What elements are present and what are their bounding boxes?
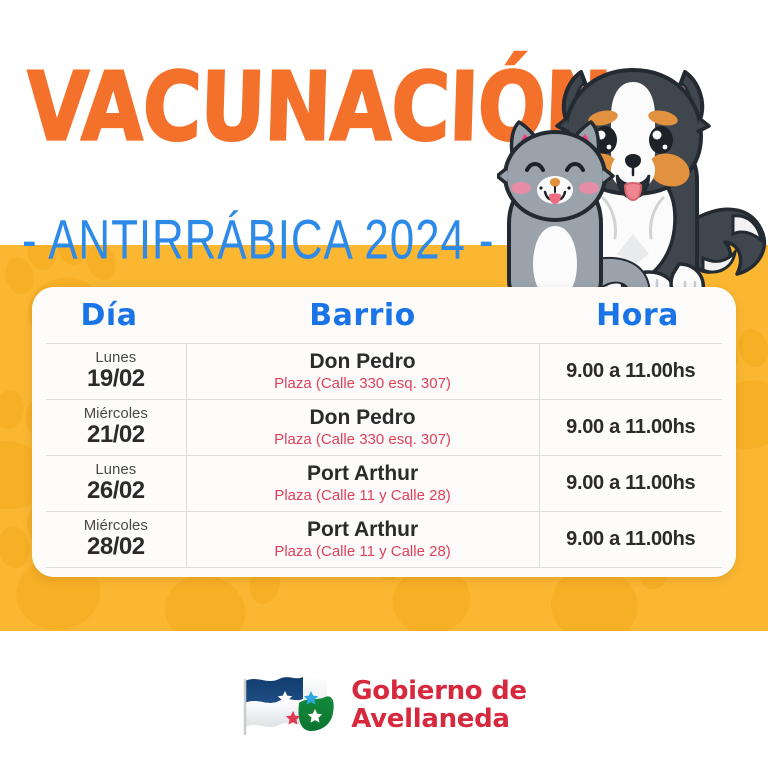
day-date: 21/02 [87,422,145,448]
cell-dia: Miércoles 28/02 [46,512,186,567]
table-row: Miércoles 21/02 Don Pedro Plaza (Calle 3… [46,399,722,455]
column-header-barrio: Barrio [186,298,539,333]
cell-hora: 9.00 a 11.00hs [540,400,722,455]
table-row: Miércoles 28/02 Port Arthur Plaza (Calle… [46,511,722,568]
barrio-name: Port Arthur [307,518,418,542]
column-header-hora: Hora [539,298,736,333]
table-row: Lunes 26/02 Port Arthur Plaza (Calle 11 … [46,455,722,511]
avellaneda-flag-icon [241,669,337,741]
footer-logo: Gobierno de Avellaneda [0,662,768,748]
cell-hora: 9.00 a 11.00hs [540,344,722,399]
hora-text: 9.00 a 11.00hs [566,416,695,439]
day-date: 28/02 [87,534,145,560]
schedule-card: Día Barrio Hora Lunes 19/02 Don Pedro Pl… [32,287,736,577]
barrio-name: Port Arthur [307,462,418,486]
day-name: Miércoles [84,518,148,534]
barrio-address: Plaza (Calle 330 esq. 307) [274,375,451,393]
barrio-address: Plaza (Calle 330 esq. 307) [274,431,451,449]
hora-text: 9.00 a 11.00hs [566,528,695,551]
gov-logo-text: Gobierno de Avellaneda [351,677,527,733]
dog-and-cat-artwork [497,48,768,320]
poster-root: VACUNACIÓN - ANTIRRÁBICA 2024 - [0,0,768,768]
barrio-name: Don Pedro [309,406,415,430]
cell-hora: 9.00 a 11.00hs [540,456,722,511]
page-subtitle: - ANTIRRÁBICA 2024 - [22,207,494,272]
day-name: Miércoles [84,406,148,422]
day-date: 26/02 [87,478,145,504]
cell-barrio: Port Arthur Plaza (Calle 11 y Calle 28) [186,512,540,567]
day-name: Lunes [95,350,136,366]
table-row: Lunes 19/02 Don Pedro Plaza (Calle 330 e… [46,343,722,399]
cell-dia: Lunes 26/02 [46,456,186,511]
barrio-name: Don Pedro [309,350,415,374]
gov-logo-line2: Avellaneda [351,705,527,733]
table-header-row: Día Barrio Hora [32,287,736,343]
barrio-address: Plaza (Calle 11 y Calle 28) [274,487,450,505]
cell-dia: Lunes 19/02 [46,344,186,399]
day-date: 19/02 [87,366,145,392]
cell-hora: 9.00 a 11.00hs [540,512,722,567]
gov-logo-line1: Gobierno de [351,677,527,705]
hora-text: 9.00 a 11.00hs [566,360,695,383]
day-name: Lunes [95,462,136,478]
cell-barrio: Don Pedro Plaza (Calle 330 esq. 307) [186,344,540,399]
hora-text: 9.00 a 11.00hs [566,472,695,495]
table-body: Lunes 19/02 Don Pedro Plaza (Calle 330 e… [32,343,736,568]
pets-illustration [497,48,768,320]
barrio-address: Plaza (Calle 11 y Calle 28) [274,543,450,561]
cell-barrio: Don Pedro Plaza (Calle 330 esq. 307) [186,400,540,455]
cell-dia: Miércoles 21/02 [46,400,186,455]
column-header-dia: Día [32,298,186,333]
cell-barrio: Port Arthur Plaza (Calle 11 y Calle 28) [186,456,540,511]
